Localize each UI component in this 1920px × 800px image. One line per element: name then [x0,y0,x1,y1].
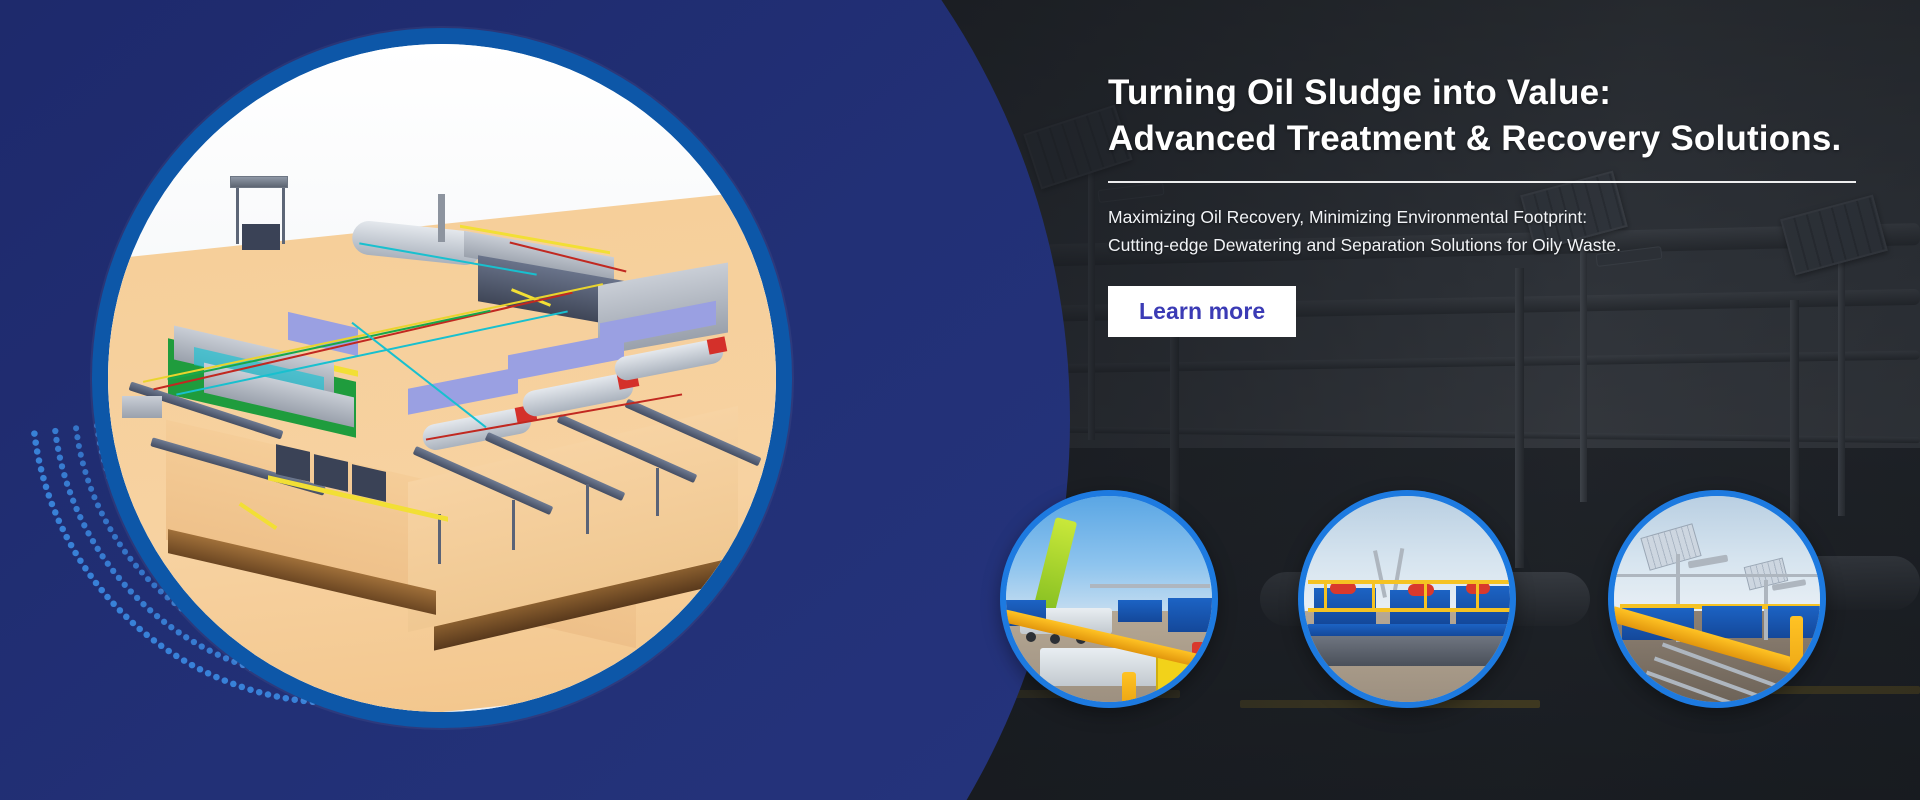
page-title: Turning Oil Sludge into Value: Advanced … [1108,70,1898,161]
site-gantry [1090,584,1210,588]
skid-base [1304,636,1510,666]
handrail-post [1122,672,1136,702]
learn-more-button[interactable]: Learn more [1108,286,1296,337]
thumbnail-image [1304,496,1510,702]
headline-line-1: Turning Oil Sludge into Value: [1108,70,1898,116]
subtitle-line-2: Cutting-edge Dewatering and Separation S… [1108,231,1898,259]
render-conveyor-leg [586,484,589,534]
render-hopper [242,224,280,250]
handrail-post [1324,580,1327,610]
handrail-post [1476,580,1479,610]
hero-image-ring [92,28,792,728]
render-conveyor-leg [512,500,515,550]
truck-wheel [1026,632,1036,642]
red-cyclone [1408,584,1434,596]
render-feed-hopper [122,396,162,418]
render-exhaust-stack [438,194,445,242]
blue-pipe-run [1304,624,1510,636]
divider [1108,181,1856,183]
hero-plant-render [108,44,776,712]
support-truck [1118,600,1162,622]
handrail-post [1424,580,1427,610]
render-conveyor-leg [438,514,441,564]
subtitle-line-1: Maximizing Oil Recovery, Minimizing Envi… [1108,203,1898,231]
thumbnail-image [1614,496,1820,702]
blue-container [1168,598,1212,632]
render-conveyor-leg [656,468,659,516]
render-canopy-roof [230,176,288,188]
truck-wheel [1050,634,1060,644]
thumbnail-solar-basin[interactable] [1608,490,1826,708]
hero-subtitle: Maximizing Oil Recovery, Minimizing Envi… [1108,203,1898,260]
render-canopy-leg [282,188,285,244]
thumbnail-site-mobilization[interactable] [1000,490,1218,708]
handrail-post [1372,580,1375,610]
headline-line-2: Advanced Treatment & Recovery Solutions. [1108,116,1898,162]
yellow-handrail [1308,580,1510,584]
hero-copy-block: Turning Oil Sludge into Value: Advanced … [1108,70,1898,337]
hero-banner: Turning Oil Sludge into Value: Advanced … [0,0,1920,800]
yellow-handrail [1308,608,1510,612]
overhead-cable [1614,574,1820,577]
render-canopy-leg [236,188,239,244]
thumbnail-treatment-skid[interactable] [1298,490,1516,708]
thumbnail-image [1006,496,1212,702]
